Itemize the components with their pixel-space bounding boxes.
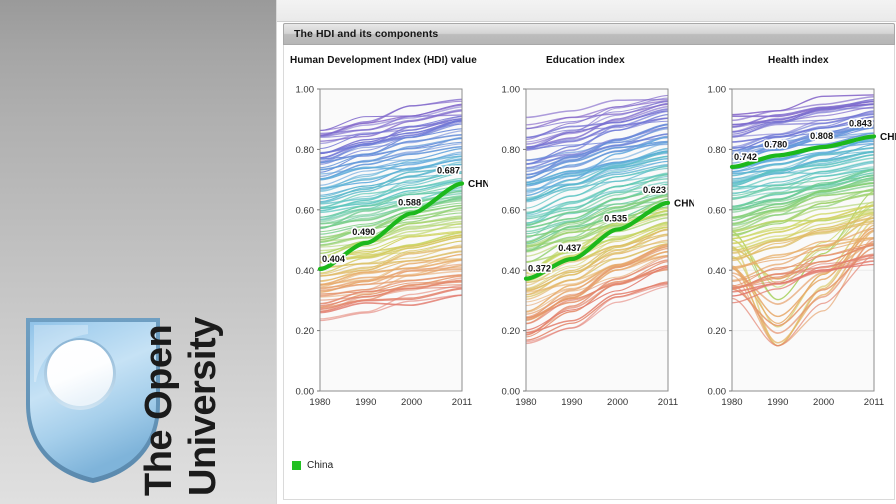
svg-text:2000: 2000: [813, 397, 834, 408]
plot-svg: 0.000.200.400.600.801.001980199020002011…: [490, 83, 694, 438]
chart-grid: Human Development Index (HDI) value 0.00…: [284, 45, 896, 455]
svg-text:0.372: 0.372: [528, 264, 551, 274]
svg-text:0.687: 0.687: [437, 166, 460, 176]
panel-body: Human Development Index (HDI) value 0.00…: [283, 45, 895, 500]
svg-text:0.20: 0.20: [502, 326, 521, 337]
svg-text:1980: 1980: [309, 397, 330, 408]
svg-text:0.80: 0.80: [708, 145, 727, 156]
svg-text:0.60: 0.60: [296, 205, 315, 216]
svg-text:0.80: 0.80: [296, 145, 315, 156]
svg-text:1.00: 1.00: [708, 85, 727, 96]
chart-title: Health index: [768, 55, 829, 66]
wordmark-line-1: The Open: [140, 325, 178, 496]
svg-text:0.20: 0.20: [296, 326, 315, 337]
chart-education-index: Education index 0.000.200.400.600.801.00…: [490, 45, 694, 455]
svg-text:0.623: 0.623: [643, 185, 666, 195]
svg-text:0.00: 0.00: [708, 387, 727, 398]
plot-area: 0.000.200.400.600.801.001980199020002011…: [696, 83, 896, 438]
svg-text:0.404: 0.404: [322, 254, 346, 264]
svg-text:0.742: 0.742: [734, 152, 757, 162]
svg-text:0.80: 0.80: [502, 145, 521, 156]
application-panel: The HDI and its components Human Develop…: [276, 0, 896, 504]
plot-svg: 0.000.200.400.600.801.001980199020002011…: [284, 83, 488, 438]
slide-root: The Open University The HDI and its comp…: [0, 0, 896, 504]
svg-text:CHN: CHN: [674, 198, 694, 209]
chart-title: Education index: [546, 55, 625, 66]
chart-health-index: Health index 0.000.200.400.600.801.00198…: [696, 45, 896, 455]
plot-area: 0.000.200.400.600.801.001980199020002011…: [284, 83, 488, 438]
chart-legend: China: [292, 460, 333, 471]
svg-text:0.00: 0.00: [296, 387, 315, 398]
svg-text:0.588: 0.588: [398, 197, 421, 207]
legend-swatch-china: [292, 461, 301, 470]
svg-text:2011: 2011: [658, 397, 678, 408]
svg-text:0.00: 0.00: [502, 387, 521, 398]
window-top-strip: [277, 0, 896, 22]
svg-text:1990: 1990: [561, 397, 582, 408]
chart-hdi-value: Human Development Index (HDI) value 0.00…: [284, 45, 488, 455]
svg-text:2000: 2000: [401, 397, 422, 408]
plot-area: 0.000.200.400.600.801.001980199020002011…: [490, 83, 694, 438]
svg-text:0.60: 0.60: [502, 205, 521, 216]
svg-text:CHN: CHN: [880, 132, 896, 143]
svg-text:0.808: 0.808: [810, 131, 833, 141]
open-university-wordmark: The Open University: [176, 306, 272, 496]
panel-header-bar: The HDI and its components: [283, 23, 895, 45]
svg-text:0.490: 0.490: [352, 227, 375, 237]
svg-text:1990: 1990: [355, 397, 376, 408]
svg-text:0.40: 0.40: [502, 266, 521, 277]
svg-text:0.535: 0.535: [604, 213, 627, 223]
chart-title: Human Development Index (HDI) value: [290, 55, 477, 66]
svg-text:0.20: 0.20: [708, 326, 727, 337]
svg-text:0.40: 0.40: [296, 266, 315, 277]
svg-text:1.00: 1.00: [502, 85, 521, 96]
svg-text:1990: 1990: [767, 397, 788, 408]
svg-text:0.40: 0.40: [708, 266, 727, 277]
svg-text:0.60: 0.60: [708, 205, 727, 216]
svg-text:1.00: 1.00: [296, 85, 315, 96]
svg-text:0.437: 0.437: [558, 243, 581, 253]
panel-title: The HDI and its components: [284, 28, 438, 40]
svg-text:2000: 2000: [607, 397, 628, 408]
plot-svg: 0.000.200.400.600.801.001980199020002011…: [696, 83, 896, 438]
svg-text:2011: 2011: [452, 397, 472, 408]
svg-text:CHN: CHN: [468, 179, 488, 190]
svg-text:1980: 1980: [515, 397, 536, 408]
svg-text:0.843: 0.843: [849, 118, 872, 128]
svg-text:1980: 1980: [721, 397, 742, 408]
svg-text:2011: 2011: [864, 397, 884, 408]
svg-text:0.780: 0.780: [764, 139, 787, 149]
legend-label-china: China: [307, 460, 333, 471]
wordmark-line-2: University: [184, 317, 222, 496]
